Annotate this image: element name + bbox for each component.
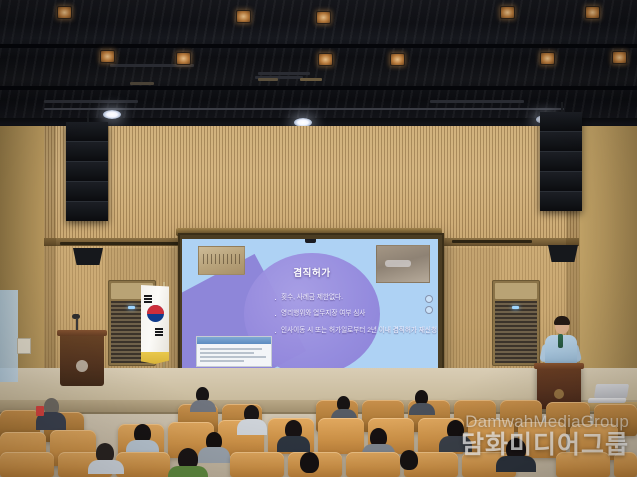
seat: [346, 452, 400, 477]
thumbnail-text-line: [200, 360, 244, 362]
fill-speaker-left: [73, 248, 103, 265]
ceiling-light-icon: [390, 53, 405, 66]
slide-bullet-1: 횟수, 사례금 제한없다.: [274, 294, 438, 303]
ceiling-slot: [44, 100, 138, 103]
soffit-slot: [452, 240, 532, 243]
speaker-module: [66, 142, 108, 162]
soffit-slot: [60, 242, 180, 245]
speaker-module: [540, 172, 582, 192]
audience-head: [400, 450, 418, 470]
ceiling-light-icon: [585, 6, 600, 19]
seat: [614, 452, 637, 477]
screen-notch: [305, 239, 316, 243]
audience-shoulders: [88, 460, 124, 474]
ceiling-light-icon: [176, 52, 191, 65]
speaker-module: [540, 132, 582, 152]
ceiling-slot: [300, 78, 322, 81]
slide-bullet-list: 횟수, 사례금 제한없다. 영리행위와 업무지장 여부 심사 인사이동 시 또는…: [234, 294, 438, 345]
speaker-module: [66, 182, 108, 202]
ceiling-light-icon: [318, 53, 333, 66]
thumbnail-text-line: [200, 356, 266, 358]
ceiling-slot: [258, 72, 310, 75]
speaker-module: [540, 112, 582, 132]
speaker-module: [66, 202, 108, 221]
speaker-module: [540, 152, 582, 172]
air-conditioner-right: [492, 280, 540, 366]
ceiling-light-icon: [612, 51, 627, 64]
speaker-module: [540, 192, 582, 211]
downlight-icon: [103, 110, 121, 119]
line-array-speaker-right: [540, 112, 582, 211]
slide-bullet-3: 인사이동 시 또는 허가일로부터 2년 이내 겸직허가 재신청: [274, 327, 438, 336]
slide-title: 겸직허가: [244, 265, 380, 279]
seat: [116, 452, 170, 477]
ceiling-slot: [258, 78, 278, 81]
podium-top-surface: [534, 363, 584, 369]
audience-shoulders: [190, 400, 216, 412]
wall-right-return: [579, 126, 637, 391]
seat: [0, 452, 54, 477]
seat: [556, 452, 610, 477]
ceiling-slot: [430, 100, 524, 103]
podium-emblem-icon: [554, 389, 564, 399]
fill-speaker-right: [548, 245, 578, 262]
ceiling-light-icon: [236, 10, 251, 23]
presentation-slide: 겸직허가 횟수, 사례금 제한없다. 영리행위와 업무지장 여부 심사 인사이동…: [182, 239, 438, 370]
presenter-handheld-microphone: [558, 334, 563, 348]
trigram-bar: [144, 301, 152, 303]
seat: [318, 418, 364, 454]
audience-shoulders: [496, 456, 536, 472]
ac-indicator-led: [128, 306, 135, 309]
laptop-keyboard: [587, 398, 626, 403]
podium-top-surface: [57, 330, 107, 336]
audience-shoulders: [168, 466, 208, 477]
ceiling-light-icon: [500, 6, 515, 19]
trigram-bar: [144, 298, 152, 300]
audience-shoulders: [439, 436, 472, 452]
audience-shoulders: [409, 403, 435, 415]
ceiling-rail: [44, 108, 564, 110]
wall-shadow: [44, 126, 56, 391]
thumbnail-text-line: [200, 348, 262, 350]
ceiling-slot: [130, 82, 154, 85]
trigram-bar: [144, 295, 152, 297]
trigram-bar: [155, 331, 163, 333]
taeguk-red-half: [147, 305, 164, 314]
ac-grille: [495, 301, 537, 363]
ceiling-light-icon: [316, 11, 331, 24]
seat: [230, 452, 284, 477]
line-array-speaker-left: [66, 122, 108, 221]
slide-image-top-left: [198, 246, 245, 275]
speaker-rigging: [87, 112, 89, 122]
slide-bullet-2: 영리행위와 업무지장 여부 심사: [274, 310, 438, 319]
audience-shoulders: [277, 436, 310, 452]
glasses-icon: [555, 324, 569, 328]
speaker-module: [66, 162, 108, 182]
speaker-rigging: [561, 102, 563, 112]
thumbnail-text-line: [200, 352, 254, 354]
ceiling: [0, 0, 637, 128]
ceiling-light-icon: [540, 52, 555, 65]
taeguk-symbol-icon: [147, 305, 164, 322]
projection-screen: 겸직허가 횟수, 사례금 제한없다. 영리행위와 업무지장 여부 심사 인사이동…: [178, 233, 444, 378]
audience-head: [300, 452, 319, 473]
wall-switch-plate: [17, 338, 31, 354]
slide-image-top-right: [376, 245, 430, 283]
trigram-bar: [155, 328, 163, 330]
podium-emblem-icon: [76, 360, 88, 372]
trigram-bar: [155, 334, 163, 336]
korean-flag: [141, 285, 169, 363]
auditorium-photo: 겸직허가 횟수, 사례금 제한없다. 영리행위와 업무지장 여부 심사 인사이동…: [0, 0, 637, 477]
audience-shoulders: [237, 419, 267, 435]
ac-vent-top: [495, 283, 537, 299]
podium-left: [60, 330, 104, 386]
ceiling-light-icon: [100, 50, 115, 63]
audience-phone: [36, 406, 44, 416]
ac-indicator-led: [512, 306, 519, 309]
side-door: [0, 290, 18, 382]
speaker-module: [66, 122, 108, 142]
audience-shoulders: [198, 447, 230, 463]
ceiling-light-icon: [57, 6, 72, 19]
laptop-screen: [594, 384, 629, 398]
